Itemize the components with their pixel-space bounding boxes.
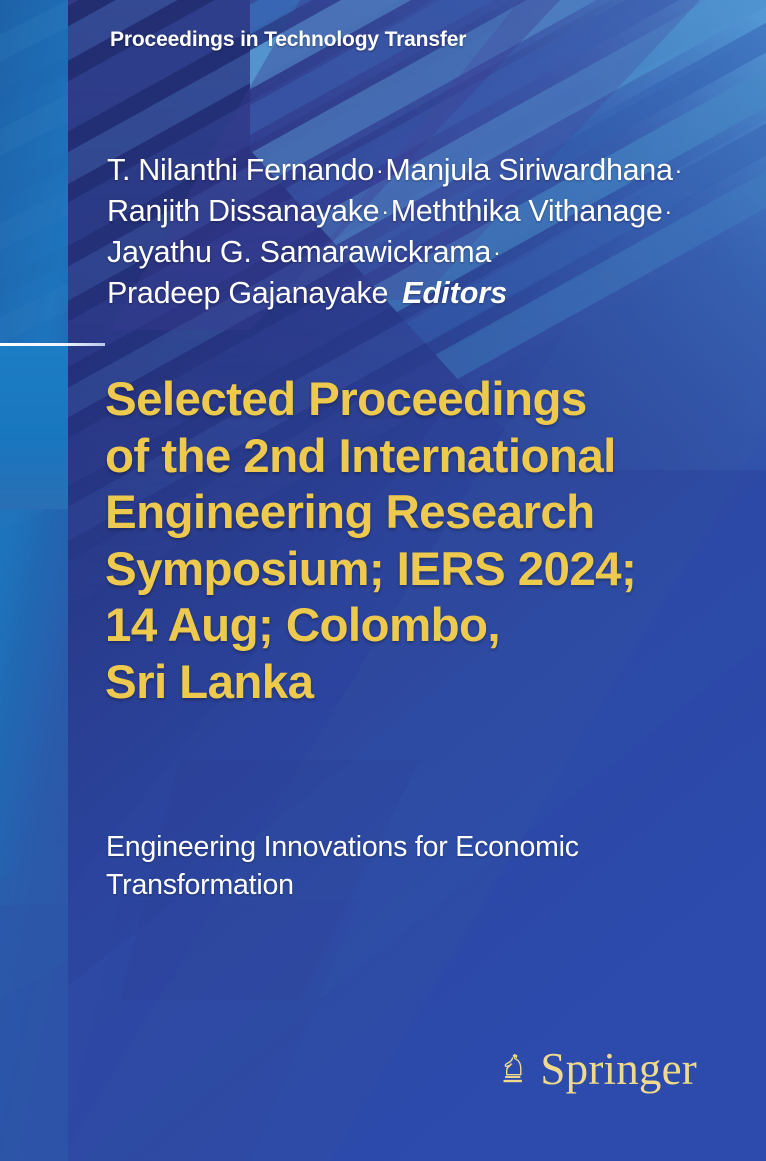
editors-line-2: Ranjith Dissanayake·Meththika Vithanage·: [107, 191, 707, 232]
editor-separator: ·: [491, 239, 502, 265]
editor-name-3: Ranjith Dissanayake: [107, 194, 379, 228]
editors-block: T. Nilanthi Fernando·Manjula Siriwardhan…: [107, 150, 707, 314]
left-accent-block: [0, 344, 68, 509]
editor-separator: ·: [663, 198, 674, 224]
editor-name-6: Pradeep Gajanayake: [107, 276, 388, 310]
editors-line-1: T. Nilanthi Fernando·Manjula Siriwardhan…: [107, 150, 707, 191]
subtitle-line-2: Transformation: [106, 866, 726, 904]
editors-role-label: Editors: [388, 276, 507, 310]
editor-name-4: Meththika Vithanage: [391, 194, 663, 228]
title-line-5: 14 Aug; Colombo,: [105, 598, 725, 655]
title-line-4: Symposium; IERS 2024;: [105, 542, 725, 599]
title-line-6: Sri Lanka: [105, 655, 725, 712]
editor-separator: ·: [673, 157, 684, 183]
subtitle: Engineering Innovations for Economic Tra…: [106, 828, 726, 904]
editor-separator: ·: [379, 198, 390, 224]
title-line-3: Engineering Research: [105, 485, 725, 542]
subtitle-line-1: Engineering Innovations for Economic: [106, 828, 726, 866]
editors-line-4: Pradeep GajanayakeEditors: [107, 273, 707, 314]
editors-line-3: Jayathu G. Samarawickrama·: [107, 232, 707, 273]
editor-name-5: Jayathu G. Samarawickrama: [107, 235, 491, 269]
title-divider-rule: [0, 343, 105, 346]
left-strip-stripes-graphic: [0, 0, 68, 1161]
title-line-2: of the 2nd International: [105, 429, 725, 486]
editor-name-1: T. Nilanthi Fernando: [107, 153, 374, 187]
springer-wordmark: Springer: [540, 1047, 697, 1092]
page-title: Selected Proceedings of the 2nd Internat…: [105, 372, 725, 711]
series-title: Proceedings in Technology Transfer: [110, 28, 466, 52]
book-cover: Proceedings in Technology Transfer T. Ni…: [0, 0, 766, 1161]
title-line-1: Selected Proceedings: [105, 372, 725, 429]
editor-separator: ·: [374, 157, 385, 183]
editor-name-2: Manjula Siriwardhana: [385, 153, 672, 187]
springer-knight-icon: [497, 1038, 528, 1100]
left-edge-strip: [0, 0, 68, 1161]
publisher-logo: Springer: [497, 1036, 697, 1102]
